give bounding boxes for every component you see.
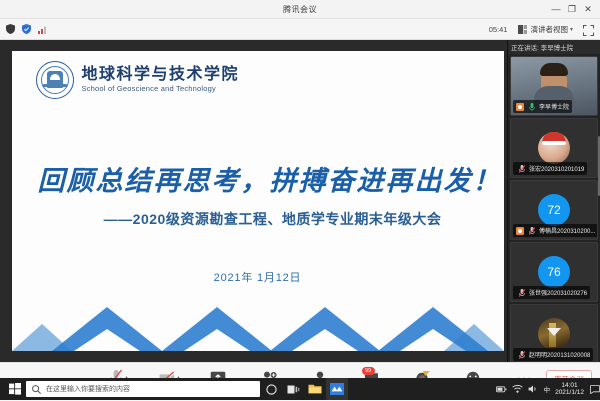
clock-date: 2021/1/12	[555, 389, 584, 396]
participant-nametag: 李早博士院	[513, 100, 572, 113]
mic-muted-icon	[516, 287, 527, 298]
speaker-view-icon	[517, 24, 528, 35]
school-seal-icon	[36, 61, 74, 99]
search-placeholder: 在这里输入你要搜索的内容	[46, 384, 130, 394]
participant-nametag: 张世强202031020276	[513, 286, 590, 299]
participant-tile[interactable]: 张宏2020310201019	[510, 118, 598, 178]
notification-center-icon[interactable]	[589, 384, 600, 395]
network-signal-icon[interactable]	[37, 24, 48, 35]
meeting-stage: 地球科学与技术学院 School of Geoscience and Techn…	[0, 40, 600, 362]
meeting-toolbar: 05:41 演讲者视图 ▾	[0, 19, 600, 40]
battery-icon[interactable]	[496, 384, 507, 395]
participant-name: 傅楠昌2020310200...	[539, 226, 595, 235]
cortana-icon[interactable]	[260, 378, 282, 400]
window-controls: — ❐ ✕	[548, 1, 600, 17]
minimize-icon[interactable]: —	[548, 1, 564, 17]
avatar: 72	[538, 194, 570, 226]
university-logo: 地球科学与技术学院 School of Geoscience and Techn…	[36, 61, 240, 99]
tencent-meeting-window: 腾讯会议 — ❐ ✕ 05:41 演讲者视图	[0, 0, 600, 378]
window-title: 腾讯会议	[0, 4, 600, 15]
participant-name: 赵明明2020131020008	[529, 350, 590, 359]
volume-icon[interactable]	[528, 384, 539, 395]
toolbar-left-icons	[5, 24, 48, 35]
taskbar-tray: 中 14:01 2021/1/12	[496, 382, 600, 397]
wifi-icon[interactable]	[512, 384, 523, 395]
participant-tile[interactable]: 李早博士院	[510, 56, 598, 116]
fullscreen-icon[interactable]	[583, 23, 595, 35]
active-speaker-banner: 正在讲话: 李早博士院	[508, 40, 600, 54]
participant-tile[interactable]: 72 傅楠昌2020310200...	[510, 180, 598, 240]
avatar: 76	[538, 256, 570, 288]
participant-tile[interactable]: 76 张世强202031020276	[510, 242, 598, 302]
toolbar-right-group: 05:41 演讲者视图 ▾	[489, 23, 595, 36]
windows-start-icon[interactable]	[8, 382, 22, 396]
mic-on-icon	[526, 101, 537, 112]
shield-icon[interactable]	[5, 24, 16, 35]
taskbar-clock[interactable]: 14:01 2021/1/12	[555, 382, 584, 397]
participant-nametag: 张宏2020310201019	[513, 162, 587, 175]
view-mode-label: 演讲者视图	[530, 24, 568, 35]
avatar	[538, 132, 570, 164]
maximize-icon[interactable]: ❐	[564, 1, 580, 17]
task-view-icon[interactable]	[282, 378, 304, 400]
chat-unread-badge: 99	[362, 367, 375, 375]
slide-decoration	[12, 289, 504, 351]
taskbar-search-input[interactable]: 在这里输入你要搜索的内容	[26, 381, 260, 397]
presentation-slide: 地球科学与技术学院 School of Geoscience and Techn…	[12, 51, 504, 351]
participant-rail[interactable]: 正在讲话: 李早博士院 李早博士院	[507, 40, 600, 362]
chevron-down-icon: ▾	[570, 26, 573, 33]
clock-time: 14:01	[561, 382, 577, 389]
window-title-bar: 腾讯会议 — ❐ ✕	[0, 0, 600, 19]
tencent-meeting-taskbar-icon[interactable]	[326, 378, 348, 400]
participant-name: 李早博士院	[539, 102, 569, 111]
file-explorer-icon[interactable]	[304, 378, 326, 400]
slide-main-title: 回顾总结再思考，拼搏奋进再出发！	[38, 159, 490, 198]
participant-nametag: 赵明明2020131020008	[513, 348, 593, 361]
mic-muted-icon	[516, 349, 527, 360]
security-icon[interactable]	[21, 24, 32, 35]
ime-indicator[interactable]: 中	[544, 384, 551, 394]
participant-tiles: 李早博士院 张宏2020310201019 72	[508, 54, 600, 362]
windows-taskbar: 在这里输入你要搜索的内容 中 14:01 2021/1/12	[0, 378, 600, 400]
school-name-cn: 地球科学与技术学院	[82, 67, 240, 84]
host-icon	[516, 103, 524, 111]
scroll-down-icon[interactable]	[547, 328, 561, 336]
mic-muted-icon	[516, 163, 527, 174]
active-speaker-label: 正在讲话: 李早博士院	[511, 42, 573, 52]
slide-subtitle: ——2020级资源勘查工程、地质学专业期末年级大会	[58, 209, 488, 229]
participant-name: 张世强202031020276	[529, 288, 587, 297]
host-icon	[516, 227, 524, 235]
shared-screen-area[interactable]: 地球科学与技术学院 School of Geoscience and Techn…	[0, 40, 507, 362]
mic-muted-icon	[526, 225, 537, 236]
meeting-timer: 05:41	[489, 25, 508, 34]
participant-nametag: 傅楠昌2020310200...	[513, 224, 598, 237]
school-name-en: School of Geoscience and Technology	[82, 85, 240, 93]
participant-name: 张宏2020310201019	[529, 164, 584, 173]
search-icon	[31, 384, 42, 395]
slide-date: 2021年 1月12日	[12, 269, 504, 285]
close-icon[interactable]: ✕	[580, 1, 596, 17]
view-mode-selector[interactable]: 演讲者视图 ▾	[514, 23, 576, 36]
